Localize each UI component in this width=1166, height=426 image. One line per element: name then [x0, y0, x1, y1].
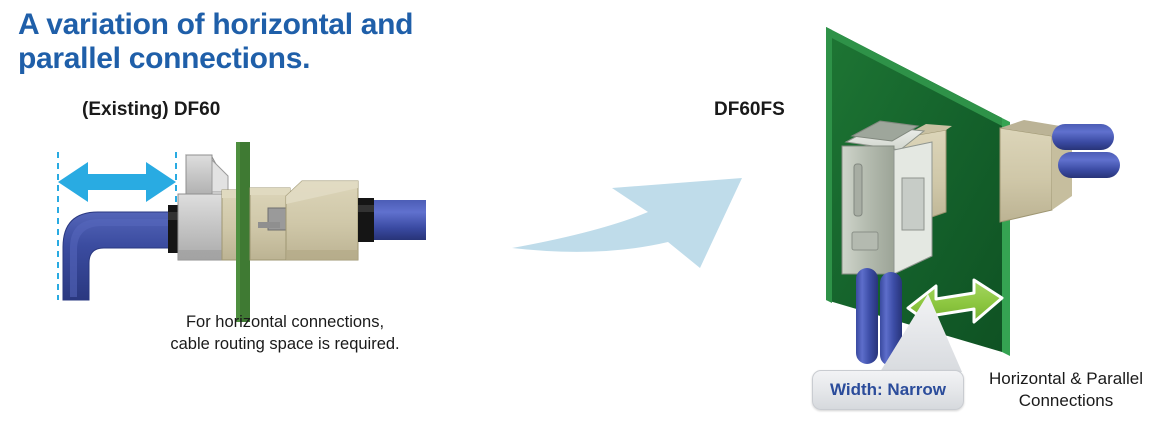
left-rear-boot-highlight [358, 205, 374, 212]
left-housing-mid [250, 188, 290, 195]
right-assembly-graphic [826, 27, 1120, 372]
left-assembly-graphic [58, 142, 426, 322]
right-caption-line-1: Horizontal & Parallel [968, 368, 1164, 390]
right-horizontal-cable-lower [1058, 152, 1120, 178]
left-panel-caption: For horizontal connections, cable routin… [140, 312, 430, 356]
diagram-canvas [0, 0, 1166, 426]
right-horizontal-cable-upper [1052, 124, 1114, 150]
left-connector-body-shadow [286, 250, 358, 260]
right-caption-line-2: Connections [968, 390, 1164, 412]
left-plug-shell-upper [186, 155, 212, 200]
left-pcb-board-edge [236, 142, 240, 322]
left-caption-line-1: For horizontal connections, [140, 312, 430, 334]
left-rear-boot [358, 198, 374, 242]
right-shield-latch-slot [854, 164, 862, 216]
right-shield-body [842, 146, 894, 274]
left-rear-cable [374, 200, 426, 240]
width-narrow-callout-text: Width: Narrow [830, 380, 946, 400]
left-caption-line-2: cable routing space is required. [140, 334, 430, 356]
right-shield-emboss [852, 232, 878, 250]
width-narrow-callout: Width: Narrow [812, 370, 964, 410]
left-plug-latch [212, 160, 228, 192]
left-plug-shell-shadow [178, 250, 222, 260]
right-panel-caption: Horizontal & Parallel Connections [968, 368, 1164, 412]
right-shield-window [902, 178, 924, 230]
left-contact-pin [258, 222, 280, 228]
right-side-housing [1000, 128, 1052, 222]
right-pcb-left-edge [826, 27, 832, 303]
transition-arrow [512, 178, 742, 268]
illustration-root: A variation of horizontal and parallel c… [0, 0, 1166, 426]
cable-routing-space-arrow [58, 162, 176, 202]
right-vertical-cable-1 [856, 268, 878, 364]
